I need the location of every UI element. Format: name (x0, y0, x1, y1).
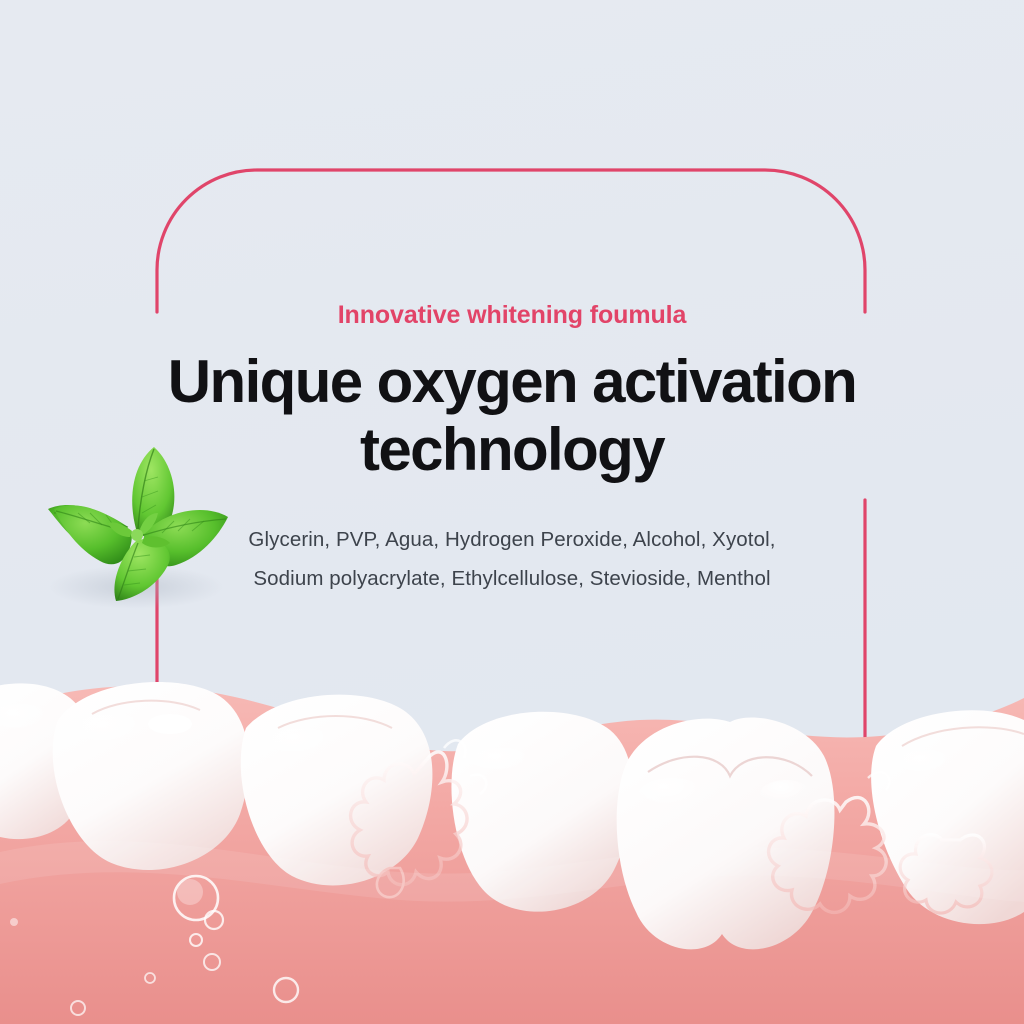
teeth-and-gums-image (0, 672, 1024, 1024)
mint-leaves-image (32, 437, 244, 622)
headline-line-1: Unique oxygen activation (168, 348, 856, 415)
tooth-gloss (638, 778, 706, 814)
tooth-highlight (148, 714, 192, 734)
poster-canvas: Innovative whitening foumula Unique oxyg… (0, 0, 1024, 1024)
mint-leaves-icon (32, 437, 244, 622)
tooth (617, 717, 835, 949)
mint-center (131, 529, 143, 541)
frame-top-path (157, 170, 865, 312)
ingredients-line-2: Sodium polyacrylate, Ethylcellulose, Ste… (150, 559, 874, 598)
tooth-gloss (894, 750, 958, 782)
teeth-illustration (0, 672, 1024, 1024)
ingredients-line-1: Glycerin, PVP, Agua, Hydrogen Peroxide, … (150, 520, 874, 559)
droplet (10, 918, 18, 926)
tooth-gloss (70, 714, 150, 754)
eyebrow-text: Innovative whitening foumula (0, 300, 1024, 330)
droplet-core (177, 879, 203, 905)
tooth-gloss (262, 728, 338, 764)
headline-line-2: technology (360, 416, 664, 483)
tooth-gloss (760, 780, 812, 808)
